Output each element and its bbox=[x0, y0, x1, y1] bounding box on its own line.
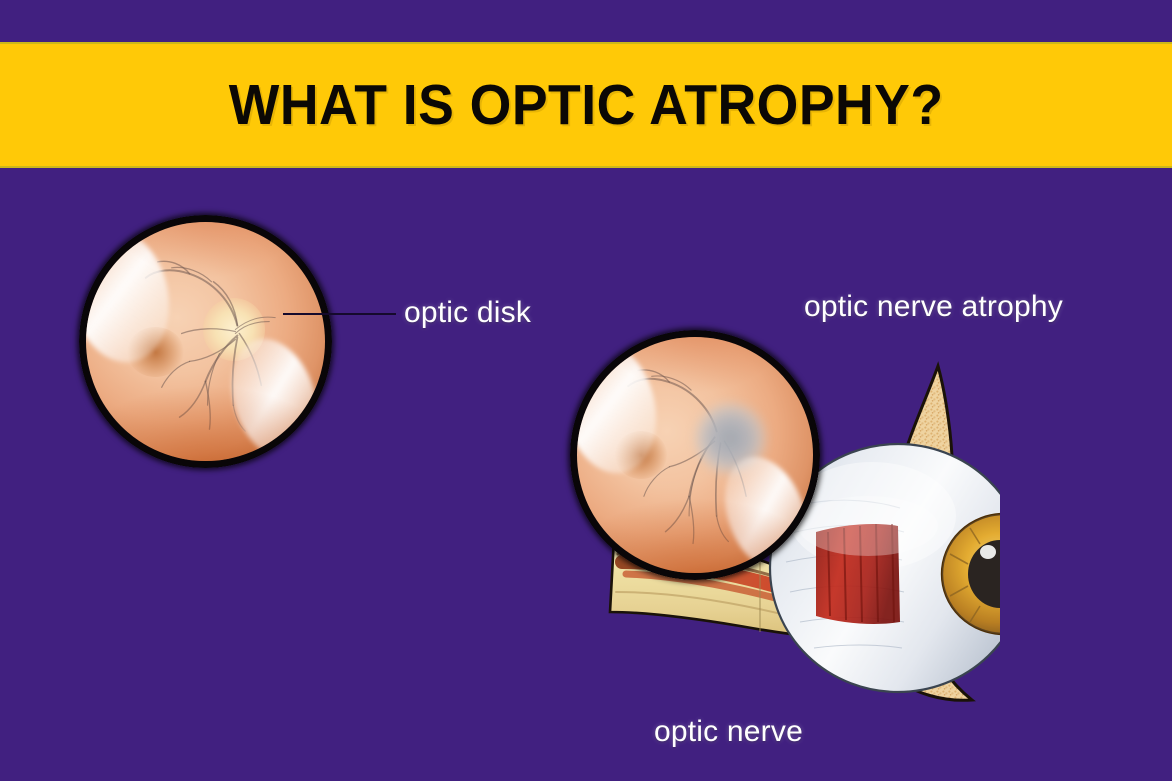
optic-disk-normal bbox=[203, 298, 265, 360]
macula-spot bbox=[127, 327, 184, 377]
retinal-vessels bbox=[86, 222, 325, 461]
banner-bottom-edge bbox=[0, 166, 1172, 168]
infographic-poster: WHAT IS OPTIC ATROPHY? bbox=[0, 0, 1172, 781]
specular-highlight-lower-right bbox=[710, 446, 813, 573]
macula-spot bbox=[615, 431, 667, 478]
title-banner: WHAT IS OPTIC ATROPHY? bbox=[0, 42, 1172, 168]
label-optic-disk: optic disk bbox=[404, 296, 531, 330]
fundus-retina bbox=[86, 222, 325, 461]
normal-fundus-image bbox=[79, 215, 332, 468]
optic-disk-leader-line bbox=[283, 313, 396, 315]
atrophic-fundus-image bbox=[570, 330, 820, 580]
retinal-vessels bbox=[577, 337, 813, 573]
optic-disk-atrophic bbox=[695, 403, 766, 474]
banner-top-edge bbox=[0, 42, 1172, 44]
specular-highlight-upper-left bbox=[577, 337, 668, 482]
label-optic-nerve: optic nerve bbox=[654, 715, 803, 749]
specular-highlight-lower-right bbox=[217, 327, 325, 461]
fundus-retina bbox=[577, 337, 813, 573]
specular-highlight-upper-left bbox=[86, 222, 180, 371]
label-optic-nerve-atrophy: optic nerve atrophy bbox=[804, 290, 1063, 324]
page-title: WHAT IS OPTIC ATROPHY? bbox=[229, 72, 944, 138]
